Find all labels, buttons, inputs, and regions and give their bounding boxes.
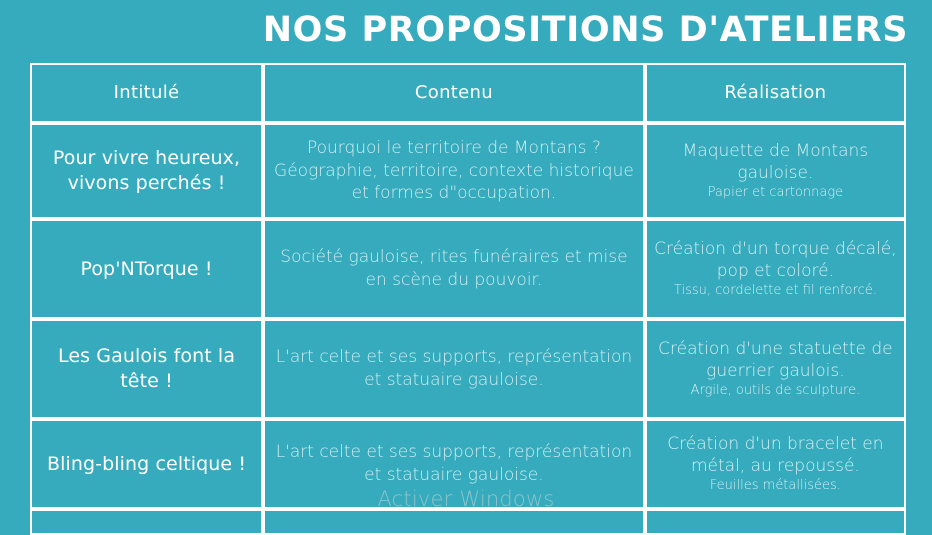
cell-intitule-text: Les Gaulois font la tête ! xyxy=(58,345,235,392)
cell-realisation: Création d'un torque décalé, pop et colo… xyxy=(645,219,906,319)
cell-empty xyxy=(30,509,263,535)
cell-intitule: Pop'NTorque ! xyxy=(30,219,263,319)
table-row: Pour vivre heureux, vivons perchés ! Pou… xyxy=(30,123,906,219)
cell-realisation-main-text: Création d'un bracelet en métal, au repo… xyxy=(653,433,898,477)
cell-contenu: Société gauloise, rites funéraires et mi… xyxy=(263,219,645,319)
cell-contenu-text: Société gauloise, rites funéraires et mi… xyxy=(280,247,627,290)
column-header-realisation-label: Réalisation xyxy=(724,82,826,103)
table-row: Les Gaulois font la tête ! L'art celte e… xyxy=(30,319,906,419)
cell-contenu: Pourquoi le territoire de Montans ? Géog… xyxy=(263,123,645,219)
cell-realisation: Création d'une statuette de guerrier gau… xyxy=(645,319,906,419)
cell-realisation-main-text: Maquette de Montans gauloise. xyxy=(653,140,898,184)
cell-contenu-text: Pourquoi le territoire de Montans ? Géog… xyxy=(274,138,634,204)
cell-contenu: L'art celte et ses supports, représentat… xyxy=(263,419,645,509)
cell-realisation-materials-text: Argile, outils de sculpture. xyxy=(653,383,898,399)
column-header-intitule-label: Intitulé xyxy=(114,82,180,103)
slide-canvas: NOS PROPOSITIONS D'ATELIERS Intitulé Con… xyxy=(0,0,932,512)
column-header-contenu-label: Contenu xyxy=(415,82,493,103)
cell-intitule-text: Pop'NTorque ! xyxy=(80,258,212,280)
cell-intitule: Les Gaulois font la tête ! xyxy=(30,319,263,419)
column-header-realisation: Réalisation xyxy=(645,63,906,123)
column-header-contenu: Contenu xyxy=(263,63,645,123)
table-header-row: Intitulé Contenu Réalisation xyxy=(30,63,906,123)
column-header-intitule: Intitulé xyxy=(30,63,263,123)
page-title: NOS PROPOSITIONS D'ATELIERS xyxy=(263,13,908,48)
title-bar: NOS PROPOSITIONS D'ATELIERS xyxy=(0,2,908,58)
cell-realisation-materials-text: Papier et cartonnage xyxy=(653,185,898,201)
cell-intitule: Pour vivre heureux, vivons perchés ! xyxy=(30,123,263,219)
cell-intitule: Bling-bling celtique ! xyxy=(30,419,263,509)
cell-contenu-text: L'art celte et ses supports, représentat… xyxy=(276,442,632,485)
cell-empty xyxy=(263,509,645,535)
workshop-proposals-table: Intitulé Contenu Réalisation Pour vivre … xyxy=(30,63,906,535)
cell-realisation: Création d'un bracelet en métal, au repo… xyxy=(645,419,906,509)
cell-contenu: L'art celte et ses supports, représentat… xyxy=(263,319,645,419)
cell-realisation: Maquette de Montans gauloise. Papier et … xyxy=(645,123,906,219)
cell-realisation-main-text: Création d'une statuette de guerrier gau… xyxy=(653,338,898,382)
cell-empty xyxy=(645,509,906,535)
cell-realisation-main-text: Création d'un torque décalé, pop et colo… xyxy=(653,238,898,282)
table-row: Pop'NTorque ! Société gauloise, rites fu… xyxy=(30,219,906,319)
cell-realisation-materials-text: Feuilles métallisées. xyxy=(653,478,898,494)
cell-realisation-materials-text: Tissu, cordelette et fil renforcé. xyxy=(653,283,898,299)
table-row-empty xyxy=(30,509,906,535)
cell-intitule-text: Bling-bling celtique ! xyxy=(47,453,246,475)
cell-contenu-text: L'art celte et ses supports, représentat… xyxy=(276,347,632,390)
cell-intitule-text: Pour vivre heureux, vivons perchés ! xyxy=(53,147,240,194)
table-row: Bling-bling celtique ! L'art celte et se… xyxy=(30,419,906,509)
